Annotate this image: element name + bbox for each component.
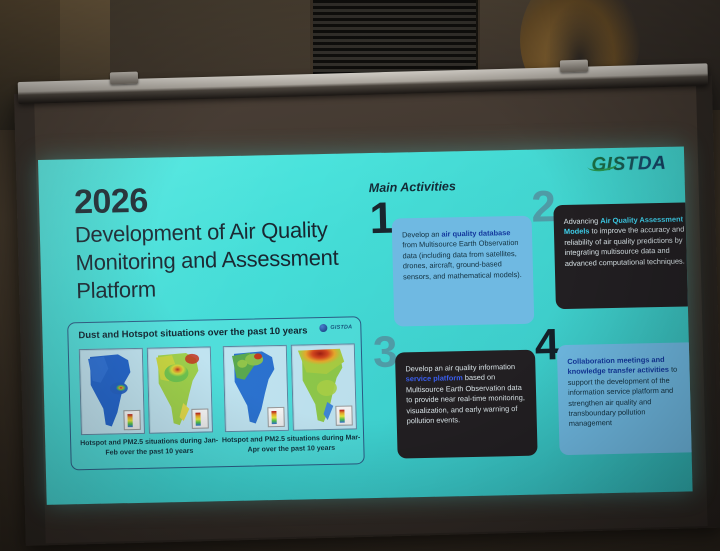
screen-clip-left xyxy=(110,72,138,85)
activity-2-text-part: Advancing xyxy=(564,216,601,226)
map-group-mar-apr xyxy=(223,343,357,432)
map-legend xyxy=(335,405,353,425)
slide-headline: Development of Air Quality Monitoring an… xyxy=(75,215,377,305)
gistda-logo: GISTDA xyxy=(591,153,666,177)
hotspot-map-jan-feb xyxy=(79,348,145,435)
map-legend xyxy=(123,410,141,430)
activity-1-text-part: from Multisource Earth Observation data … xyxy=(402,238,522,281)
activity-3-number: 3 xyxy=(373,335,398,372)
main-activities-heading: Main Activities xyxy=(369,179,456,195)
map-legend xyxy=(191,408,209,428)
map-caption-jan-feb: Hotspot and PM2.5 situations during Jan-… xyxy=(79,436,219,458)
map-panel-logo: GISTDA xyxy=(319,323,352,332)
map-group-jan-feb xyxy=(79,346,213,435)
activity-1-highlight: air quality database xyxy=(441,228,510,238)
activity-1-number: 1 xyxy=(369,201,394,238)
map-caption-mar-apr: Hotspot and PM2.5 situations during Mar-… xyxy=(221,433,361,455)
activity-1-text-part: Develop an xyxy=(402,230,442,240)
pm25-map-jan-feb xyxy=(147,346,213,433)
map-panel-logo-text: GISTDA xyxy=(330,324,352,330)
logo-dot-icon xyxy=(319,324,327,332)
map-legend xyxy=(267,407,285,427)
activity-2-box: Advancing Air Quality Assessment Models … xyxy=(553,202,692,309)
presentation-slide: GISTDA 2026 Development of Air Quality M… xyxy=(38,146,693,504)
activity-1-box: Develop an air quality database from Mul… xyxy=(392,216,535,327)
activity-3-box: Develop an air quality information servi… xyxy=(395,350,538,459)
activity-4-highlight: Collaboration meetings and knowledge tra… xyxy=(567,355,669,376)
projected-slide-wrapper: GISTDA 2026 Development of Air Quality M… xyxy=(38,146,693,504)
activity-2-number: 2 xyxy=(531,189,556,226)
screen-clip-right xyxy=(560,60,588,73)
map-panel: Dust and Hotspot situations over the pas… xyxy=(67,316,365,470)
activity-4-box: Collaboration meetings and knowledge tra… xyxy=(557,342,693,455)
activity-4-number: 4 xyxy=(534,327,559,364)
photo-scene: GISTDA 2026 Development of Air Quality M… xyxy=(0,0,720,551)
hotspot-map-mar-apr xyxy=(223,345,289,432)
slide-year: 2026 xyxy=(74,182,149,223)
activity-3-text-part: Develop an air quality information xyxy=(405,362,515,373)
map-panel-title: Dust and Hotspot situations over the pas… xyxy=(78,325,307,341)
pm25-map-mar-apr xyxy=(291,343,357,430)
activity-3-highlight: service platform xyxy=(406,374,463,384)
